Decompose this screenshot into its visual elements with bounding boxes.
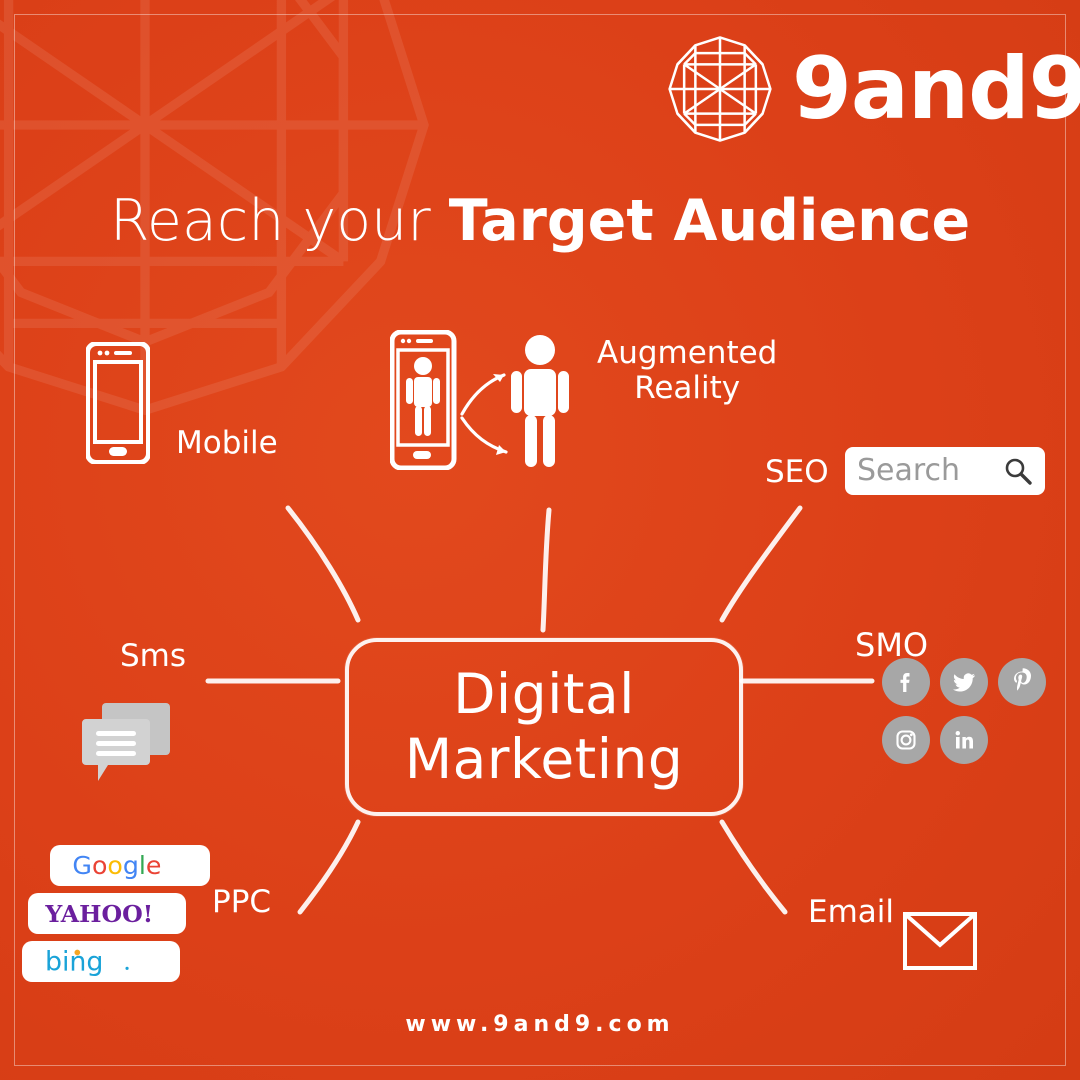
social-icon-group [882,658,1052,774]
node-label-augmented-reality: Augmented Reality [597,336,777,407]
brand-logo: 9and9 ™ [664,33,1080,145]
smartphone-icon [86,342,150,464]
ppc-logo-group: Google YAHOO! bing [22,845,222,989]
social-icon-row-bottom [882,716,1052,764]
facebook-icon[interactable] [882,658,930,706]
svg-text:Google: Google [72,851,161,880]
pinterest-icon[interactable] [998,658,1046,706]
bing-logo: bing [22,941,180,982]
ar-label-line2: Reality [597,371,777,406]
instagram-icon[interactable] [882,716,930,764]
headline-light-text: Reach your [110,188,449,254]
google-logo: Google [50,845,210,886]
svg-text:YAHOO!: YAHOO! [44,899,153,927]
node-label-sms: Sms [120,639,186,674]
envelope-icon [903,912,977,970]
ar-phone-person-icon [390,330,575,470]
page-title: Reach your Target Audience [0,192,1080,252]
infographic-canvas: 9and9 ™ Reach your Target Audience [0,0,1080,1080]
ar-label-line1: Augmented [597,336,777,371]
social-icon-row-top [882,658,1052,706]
center-node-label: Digital Marketing [405,662,684,792]
node-label-seo: SEO [765,455,829,490]
magnifier-icon[interactable] [1003,456,1033,486]
chat-bubbles-icon [78,695,174,791]
node-label-mobile: Mobile [176,426,278,461]
footer-url: www.9and9.com [0,1012,1080,1037]
center-node-digital-marketing: Digital Marketing [345,638,743,816]
geodesic-polygon-icon [664,33,776,145]
svg-text:bing: bing [45,947,104,977]
brand-name-text: 9and9 [792,39,1080,139]
node-label-email: Email [808,895,894,930]
headline-bold-text: Target Audience [449,188,970,254]
linkedin-icon[interactable] [940,716,988,764]
twitter-icon[interactable] [940,658,988,706]
brand-wordmark: 9and9 ™ [792,46,1080,132]
search-input[interactable]: Search [845,447,1045,495]
yahoo-logo: YAHOO! [28,893,186,934]
center-node-line1: Digital [405,662,684,727]
search-placeholder-text: Search [857,456,997,486]
center-node-line2: Marketing [405,727,684,792]
